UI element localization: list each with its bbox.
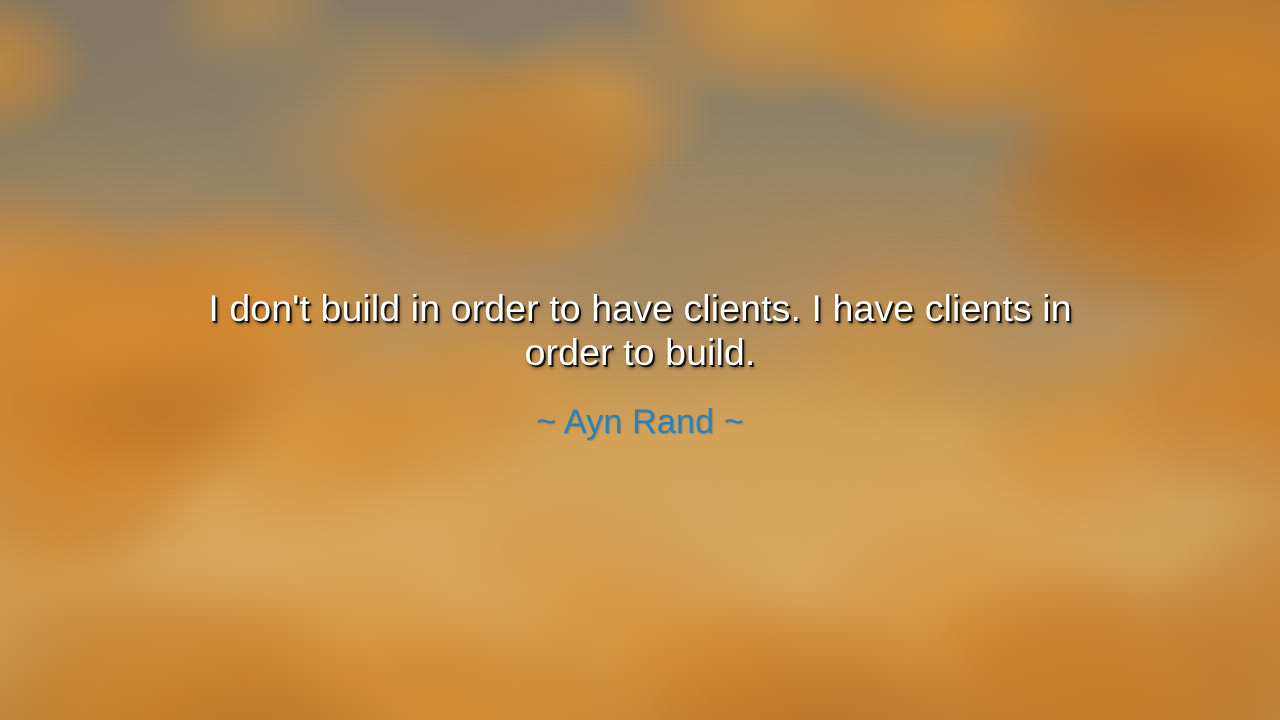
quote-card: I don't build in order to have clients. … — [0, 0, 1280, 720]
quote-block: I don't build in order to have clients. … — [0, 286, 1280, 442]
quote-author: ~ Ayn Rand ~ — [536, 402, 744, 442]
quote-text: I don't build in order to have clients. … — [170, 286, 1110, 374]
